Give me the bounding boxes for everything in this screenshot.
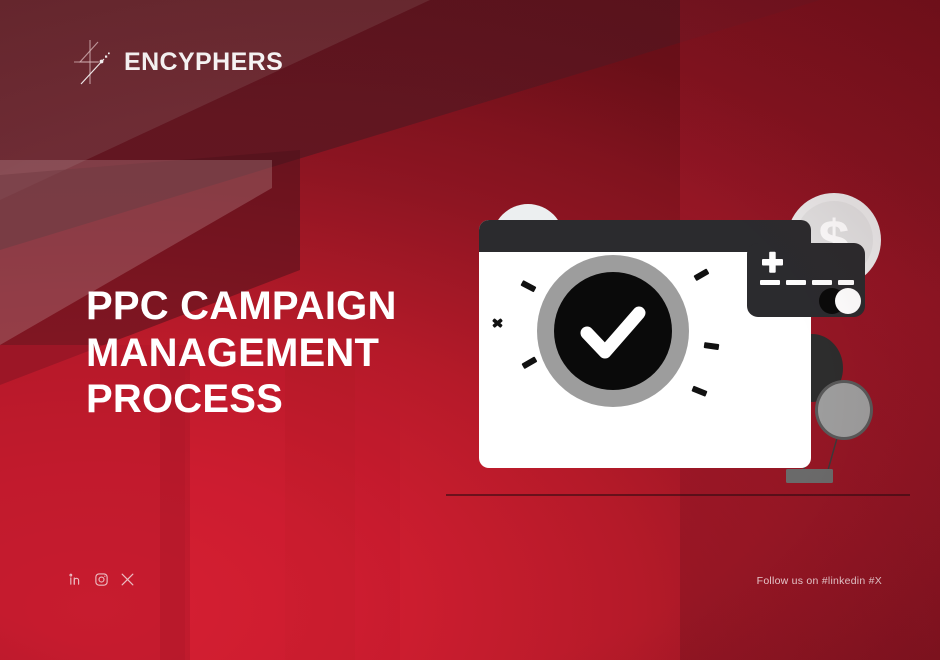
follow-us-text: Follow us on #linkedin #X: [757, 575, 882, 587]
brand-lockup: ENCYPHERS: [68, 36, 283, 88]
x-twitter-icon[interactable]: [120, 572, 135, 587]
linkedin-icon[interactable]: [68, 572, 83, 587]
poster-canvas: ENCYPHERS PPC CAMPAIGN MANAGEMENT PROCES…: [0, 0, 940, 660]
check-circle-icon: [537, 255, 689, 407]
social-links[interactable]: [68, 572, 135, 587]
ppc-success-illustration: $: [440, 170, 940, 515]
encyphers-arrow-mark-icon: [68, 36, 120, 88]
instagram-icon[interactable]: [94, 572, 109, 587]
credit-card-icon: [747, 243, 865, 317]
brand-name: ENCYPHERS: [124, 48, 283, 77]
